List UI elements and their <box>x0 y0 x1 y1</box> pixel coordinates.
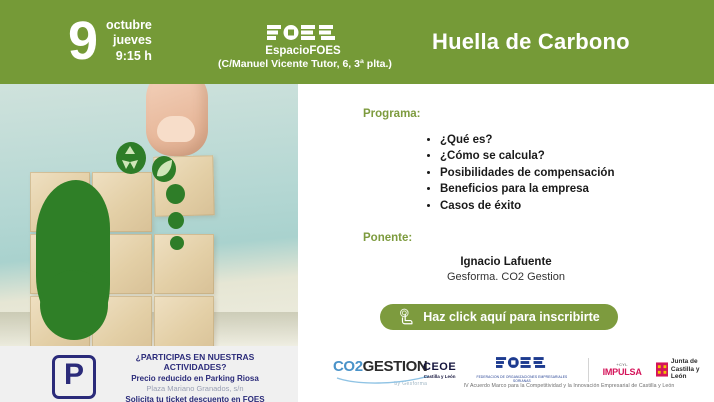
footprint-toe <box>166 184 185 204</box>
event-date-block: 9 octubre jueves 9:15 h <box>68 14 152 68</box>
logo-divider <box>588 358 589 382</box>
foes-footer-subtitle: FEDERACION DE ORGANIZACIONES EMPRESARIAL… <box>470 375 573 383</box>
register-button[interactable]: Haz click aquí para inscribirte <box>380 304 618 330</box>
hand-finger-illustration <box>146 84 208 156</box>
junta-line-1: Junta de <box>671 358 714 366</box>
list-item: ¿Cómo se calcula? <box>440 148 614 164</box>
page-title: Huella de Carbono <box>432 29 630 55</box>
co2-swoosh-icon <box>335 375 431 385</box>
venue-name: EspacioFOES <box>218 45 388 58</box>
parking-line-4: Plaza Mariano Granados, s/n <box>100 384 290 394</box>
venue-address: (C/Manuel Vicente Tutor, 6, 3ª plta.) <box>218 58 388 71</box>
foes-logo-icon <box>267 24 339 41</box>
content-panel: Programa: ¿Qué es? ¿Cómo se calcula? Pos… <box>298 84 714 346</box>
event-day-number: 9 <box>68 14 97 68</box>
parking-line-5: Solicita tu ticket descuento en FOES <box>100 394 290 402</box>
event-poster: 9 octubre jueves 9:15 h EspacioF <box>0 0 714 402</box>
wood-cube <box>154 296 214 346</box>
co2-logo-part-b: GESTION <box>363 358 428 375</box>
list-item: Beneficios para la empresa <box>440 181 614 197</box>
junta-castilla-leon-logo: Junta de Castilla y León <box>656 358 714 381</box>
programa-label: Programa: <box>363 108 421 120</box>
junta-shield-icon <box>656 362 668 377</box>
parking-banner: P ¿PARTICIPAS EN NUESTRAS ACTIVIDADES? P… <box>0 346 298 402</box>
wood-cube <box>154 234 214 294</box>
institutional-logo-row: CEOE Castilla y León FEDERACIO <box>423 356 714 383</box>
ceoe-subtitle: Castilla y León <box>423 374 456 379</box>
footprint-heel <box>40 270 108 340</box>
register-button-label: Haz click aquí para inscribirte <box>423 310 599 324</box>
leaf-icon <box>150 154 178 184</box>
list-item: ¿Qué es? <box>440 132 614 148</box>
co2gestion-logo: CO2GESTION by Gesforma <box>333 358 427 387</box>
ponente-label: Ponente: <box>363 232 412 244</box>
speaker-organization: Gesforma. CO2 Gestion <box>298 271 714 283</box>
parking-text: ¿PARTICIPAS EN NUESTRAS ACTIVIDADES? Pre… <box>100 352 290 402</box>
junta-wordmark: Junta de Castilla y León <box>671 358 714 381</box>
footer-logos: CO2GESTION by Gesforma CEOE Castilla y L… <box>298 346 714 402</box>
list-item: Casos de éxito <box>440 198 614 214</box>
hand-click-icon <box>398 308 416 326</box>
impulsa-logo: +CYL IMPULSA <box>603 362 642 377</box>
parking-line-2: ACTIVIDADES? <box>100 362 290 372</box>
event-weekday: jueves <box>106 33 152 49</box>
poster-header: 9 octubre jueves 9:15 h EspacioF <box>0 0 714 84</box>
venue-block: EspacioFOES (C/Manuel Vicente Tutor, 6, … <box>218 24 388 71</box>
co2gestion-wordmark: CO2GESTION <box>333 358 427 375</box>
event-time: 9:15 h <box>106 49 152 65</box>
footprint-toe <box>168 212 184 229</box>
ceoe-logo: CEOE Castilla y León <box>423 361 456 379</box>
parking-line-3: Precio reducido en Parking Riosa <box>100 373 290 384</box>
footprint-toe <box>170 236 184 250</box>
ceoe-wordmark: CEOE <box>423 361 456 373</box>
speaker-name: Ignacio Lafuente <box>298 256 714 268</box>
junta-line-2: Castilla y León <box>671 366 714 381</box>
co2-logo-part-a: CO2 <box>333 358 363 375</box>
event-month: octubre <box>106 18 152 34</box>
programa-list: ¿Qué es? ¿Cómo se calcula? Posibilidades… <box>426 132 614 214</box>
impulsa-wordmark: IMPULSA <box>603 367 642 377</box>
footer-note: IV Acuerdo Marco para la Competitividad … <box>428 383 710 389</box>
recycle-icon <box>110 136 150 178</box>
parking-p-icon: P <box>52 355 96 399</box>
carbon-footprint-photo <box>0 84 298 346</box>
foes-footer-logo: FEDERACION DE ORGANIZACIONES EMPRESARIAL… <box>470 356 573 383</box>
list-item: Posibilidades de compensación <box>440 165 614 181</box>
foes-logo-icon <box>496 356 548 369</box>
parking-line-1: ¿PARTICIPAS EN NUESTRAS <box>100 352 290 362</box>
event-date-lines: octubre jueves 9:15 h <box>106 18 152 65</box>
